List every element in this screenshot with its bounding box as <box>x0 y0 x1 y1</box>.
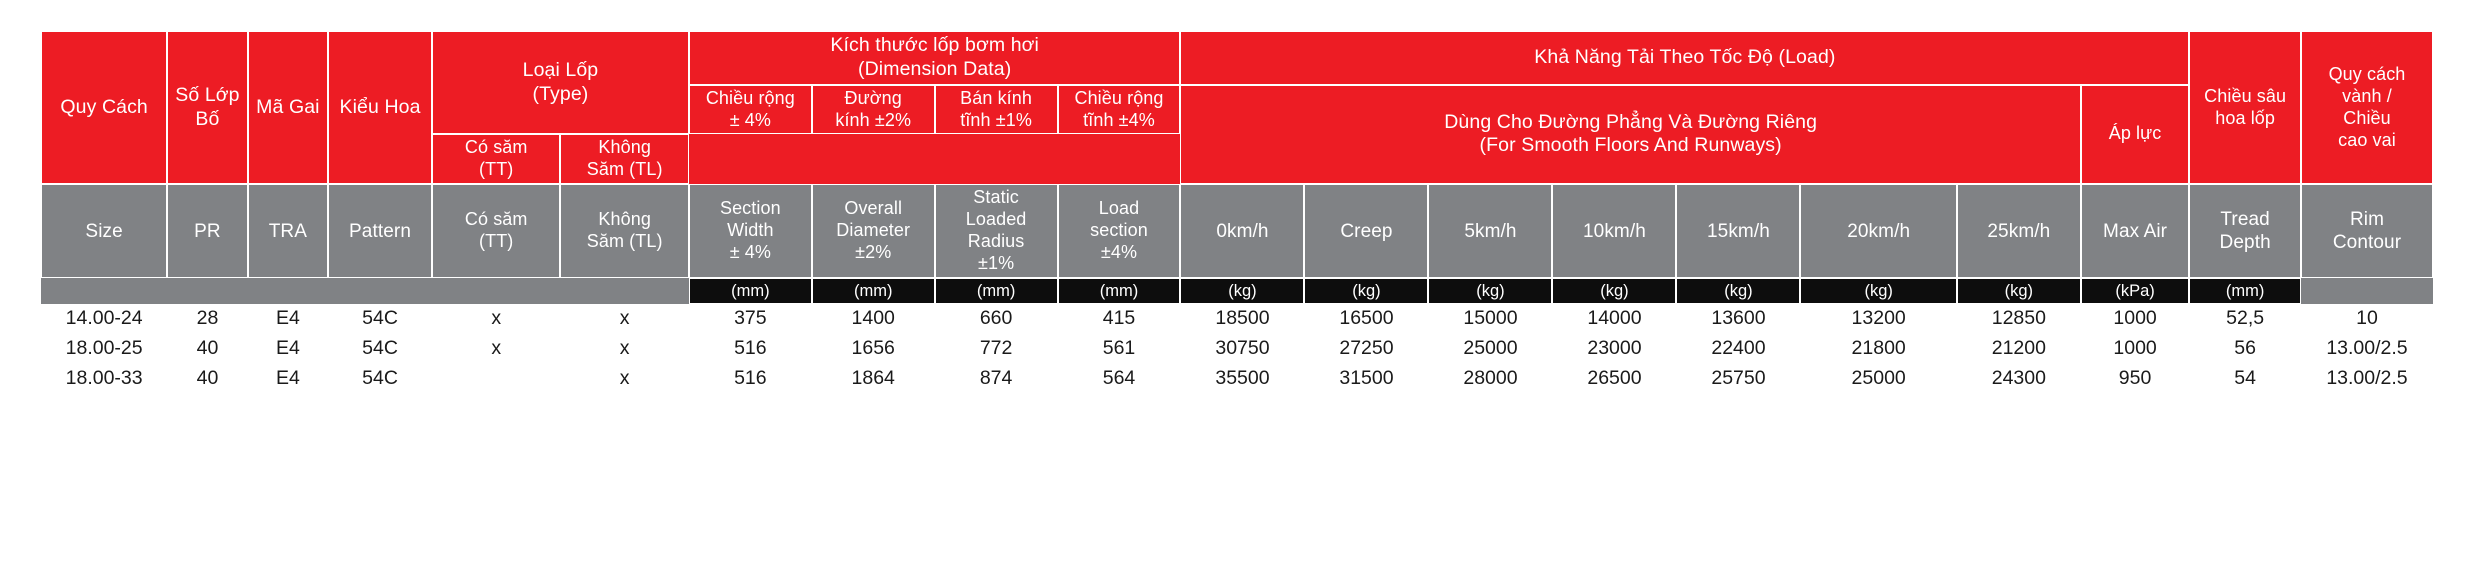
header-chieu-rong-tinh: Chiều rộng tĩnh ±4% <box>1058 85 1181 135</box>
unit-blank-size <box>41 278 167 304</box>
unit-blank-tl <box>560 278 688 304</box>
header-spacer-dim3 <box>935 134 1058 184</box>
load-section-line1: Load <box>1062 198 1177 220</box>
chieu-rong-tinh-line1: Chiều rộng <box>1062 88 1177 110</box>
header-pr: PR <box>167 184 247 278</box>
cell-size: 18.00-33 <box>41 364 167 394</box>
cell-rim-contour: 13.00/2.5 <box>2301 334 2433 364</box>
quy-cach-vanh-line1: Quy cách <box>2305 64 2429 86</box>
header-section-width: Section Width ± 4% <box>689 184 812 278</box>
cell-tread-depth: 52,5 <box>2189 304 2301 334</box>
header-speed-0kmh: 0km/h <box>1180 184 1304 278</box>
cell-load-creep: 27250 <box>1304 334 1428 364</box>
cell-pr: 40 <box>167 334 247 364</box>
header-ban-kinh-tinh: Bán kính tĩnh ±1% <box>935 85 1058 135</box>
header-load-group: Khả Năng Tải Theo Tốc Độ (Load) <box>1180 31 2189 85</box>
cell-load-0kmh: 35500 <box>1180 364 1304 394</box>
header-row-english: Size PR TRA Pattern Có săm (TT) Không Să… <box>41 184 2433 278</box>
cell-section-width: 516 <box>689 334 812 364</box>
chieu-rong-line2: ± 4% <box>693 110 808 132</box>
unit-blank-tt <box>432 278 560 304</box>
cell-load-10kmh: 26500 <box>1552 364 1676 394</box>
cell-load-0kmh: 18500 <box>1180 304 1304 334</box>
header-khong-sam-en: Không Săm (TL) <box>560 184 688 278</box>
header-ma-gai: Mã Gai <box>248 31 328 184</box>
table-row: 18.00-33 40 E4 54C x 516 1864 874 564 35… <box>41 364 2433 394</box>
header-pattern: Pattern <box>328 184 432 278</box>
load-section-line2: section <box>1062 220 1177 242</box>
tread-depth-line2: Depth <box>2193 231 2297 254</box>
cell-load-15kmh: 22400 <box>1676 334 1800 364</box>
cell-load-20kmh: 21800 <box>1800 334 1956 364</box>
co-sam-en-line1: Có săm <box>436 209 556 231</box>
cell-overall-diameter: 1864 <box>812 364 935 394</box>
cell-load-20kmh: 13200 <box>1800 304 1956 334</box>
header-load-section: Load section ±4% <box>1058 184 1181 278</box>
header-row-group-top: Quy Cách Số Lớp Bố Mã Gai Kiểu Hoa Loại … <box>41 31 2433 85</box>
co-sam-line1: Có săm <box>436 137 556 159</box>
cell-load-15kmh: 13600 <box>1676 304 1800 334</box>
ban-kinh-line2: tĩnh ±1% <box>939 110 1054 132</box>
duong-kinh-line1: Đường <box>816 88 931 110</box>
unit-max-air: (kPa) <box>2081 278 2189 304</box>
header-co-sam-en: Có săm (TT) <box>432 184 560 278</box>
header-khong-sam: Không Săm (TL) <box>560 134 688 184</box>
cell-load-25kmh: 21200 <box>1957 334 2081 364</box>
cell-load-15kmh: 25750 <box>1676 364 1800 394</box>
chieu-rong-line1: Chiều rộng <box>693 88 808 110</box>
header-max-air: Max Air <box>2081 184 2189 278</box>
cell-tubeless: x <box>560 334 688 364</box>
header-spacer-dim4 <box>1058 134 1181 184</box>
header-quy-cach: Quy Cách <box>41 31 167 184</box>
cell-tubeless: x <box>560 364 688 394</box>
loai-lop-line1: Loại Lốp <box>436 59 685 83</box>
cell-load-creep: 16500 <box>1304 304 1428 334</box>
cell-pattern: 54C <box>328 334 432 364</box>
smooth-line1: Dùng Cho Đường Phẳng Và Đường Riêng <box>1184 111 2076 135</box>
chieu-rong-tinh-line2: tĩnh ±4% <box>1062 110 1177 132</box>
header-spacer-dim <box>689 134 812 184</box>
overall-diameter-line2: Diameter <box>816 220 931 242</box>
cell-load-section: 564 <box>1058 364 1181 394</box>
unit-tread-depth: (mm) <box>2189 278 2301 304</box>
unit-load-section: (mm) <box>1058 278 1181 304</box>
table-row: 14.00-24 28 E4 54C x x 375 1400 660 415 … <box>41 304 2433 334</box>
unit-blank-tra <box>248 278 328 304</box>
rim-contour-line2: Contour <box>2305 231 2429 254</box>
cell-static-loaded-radius: 772 <box>935 334 1058 364</box>
header-co-sam: Có săm (TT) <box>432 134 560 184</box>
cell-size: 18.00-25 <box>41 334 167 364</box>
header-tread-depth: Tread Depth <box>2189 184 2301 278</box>
cell-load-section: 415 <box>1058 304 1181 334</box>
section-width-line1: Section <box>693 198 808 220</box>
tire-specification-table: Quy Cách Số Lớp Bố Mã Gai Kiểu Hoa Loại … <box>41 31 2433 394</box>
header-chieu-rong: Chiều rộng ± 4% <box>689 85 812 135</box>
cell-load-10kmh: 23000 <box>1552 334 1676 364</box>
header-duong-kinh: Đường kính ±2% <box>812 85 935 135</box>
cell-size: 14.00-24 <box>41 304 167 334</box>
cell-tube-type <box>432 364 560 394</box>
header-speed-creep: Creep <box>1304 184 1428 278</box>
cell-section-width: 516 <box>689 364 812 394</box>
cell-tube-type: x <box>432 334 560 364</box>
cell-load-5kmh: 25000 <box>1428 334 1552 364</box>
table-row: 18.00-25 40 E4 54C x x 516 1656 772 561 … <box>41 334 2433 364</box>
khong-sam-line1: Không <box>564 137 684 159</box>
section-width-line3: ± 4% <box>693 242 808 264</box>
header-spacer-dim2 <box>812 134 935 184</box>
rim-contour-line1: Rim <box>2305 208 2429 231</box>
static-radius-line4: ±1% <box>939 253 1054 275</box>
header-smooth-floors-group: Dùng Cho Đường Phẳng Và Đường Riêng (For… <box>1180 85 2080 185</box>
header-row-units: (mm) (mm) (mm) (mm) (kg) (kg) (kg) (kg) … <box>41 278 2433 304</box>
co-sam-en-line2: (TT) <box>436 231 556 253</box>
cell-overall-diameter: 1656 <box>812 334 935 364</box>
cell-pattern: 54C <box>328 304 432 334</box>
cell-load-5kmh: 15000 <box>1428 304 1552 334</box>
unit-blank-pr <box>167 278 247 304</box>
loai-lop-line2: (Type) <box>436 83 685 107</box>
cell-load-25kmh: 12850 <box>1957 304 2081 334</box>
cell-load-section: 561 <box>1058 334 1181 364</box>
unit-load-15kmh: (kg) <box>1676 278 1800 304</box>
cell-load-25kmh: 24300 <box>1957 364 2081 394</box>
cell-overall-diameter: 1400 <box>812 304 935 334</box>
header-loai-lop-group: Loại Lốp (Type) <box>432 31 689 134</box>
header-static-loaded-radius: Static Loaded Radius ±1% <box>935 184 1058 278</box>
header-kieu-hoa: Kiểu Hoa <box>328 31 432 184</box>
static-radius-line2: Loaded <box>939 209 1054 231</box>
header-speed-10kmh: 10km/h <box>1552 184 1676 278</box>
cell-tread-depth: 56 <box>2189 334 2301 364</box>
cell-load-10kmh: 14000 <box>1552 304 1676 334</box>
header-overall-diameter: Overall Diameter ±2% <box>812 184 935 278</box>
cell-tube-type: x <box>432 304 560 334</box>
overall-diameter-line3: ±2% <box>816 242 931 264</box>
cell-section-width: 375 <box>689 304 812 334</box>
cell-static-loaded-radius: 660 <box>935 304 1058 334</box>
khong-sam-line2: Săm (TL) <box>564 159 684 181</box>
cell-tubeless: x <box>560 304 688 334</box>
khong-sam-en-line2: Săm (TL) <box>564 231 684 253</box>
unit-load-creep: (kg) <box>1304 278 1428 304</box>
cell-load-0kmh: 30750 <box>1180 334 1304 364</box>
cell-pr: 28 <box>167 304 247 334</box>
header-speed-5kmh: 5km/h <box>1428 184 1552 278</box>
cell-tra: E4 <box>248 364 328 394</box>
static-radius-line3: Radius <box>939 231 1054 253</box>
duong-kinh-line2: kính ±2% <box>816 110 931 132</box>
header-so-lop-bo: Số Lớp Bố <box>167 31 247 184</box>
unit-blank-rim <box>2301 278 2433 304</box>
unit-load-5kmh: (kg) <box>1428 278 1552 304</box>
unit-load-0kmh: (kg) <box>1180 278 1304 304</box>
dimension-line2: (Dimension Data) <box>693 58 1177 82</box>
cell-tra: E4 <box>248 304 328 334</box>
cell-max-air: 950 <box>2081 364 2189 394</box>
unit-section-width: (mm) <box>689 278 812 304</box>
load-section-line3: ±4% <box>1062 242 1177 264</box>
header-speed-20kmh: 20km/h <box>1800 184 1956 278</box>
unit-overall-diameter: (mm) <box>812 278 935 304</box>
quy-cach-vanh-line2: vành / <box>2305 86 2429 108</box>
co-sam-line2: (TT) <box>436 159 556 181</box>
cell-load-creep: 31500 <box>1304 364 1428 394</box>
unit-load-20kmh: (kg) <box>1800 278 1956 304</box>
overall-diameter-line1: Overall <box>816 198 931 220</box>
cell-tread-depth: 54 <box>2189 364 2301 394</box>
cell-max-air: 1000 <box>2081 334 2189 364</box>
cell-pattern: 54C <box>328 364 432 394</box>
unit-load-10kmh: (kg) <box>1552 278 1676 304</box>
section-width-line2: Width <box>693 220 808 242</box>
cell-tra: E4 <box>248 334 328 364</box>
header-chieu-sau-hoa-lop: Chiều sâu hoa lốp <box>2189 31 2301 184</box>
cell-max-air: 1000 <box>2081 304 2189 334</box>
header-tra: TRA <box>248 184 328 278</box>
header-speed-15kmh: 15km/h <box>1676 184 1800 278</box>
dimension-line1: Kích thước lốp bơm hơi <box>693 34 1177 58</box>
tread-depth-line1: Tread <box>2193 208 2297 231</box>
header-ap-luc: Áp lực <box>2081 85 2189 185</box>
header-rim-contour: Rim Contour <box>2301 184 2433 278</box>
unit-blank-pattern <box>328 278 432 304</box>
khong-sam-en-line1: Không <box>564 209 684 231</box>
cell-rim-contour: 10 <box>2301 304 2433 334</box>
cell-load-5kmh: 28000 <box>1428 364 1552 394</box>
header-quy-cach-vanh: Quy cách vành / Chiều cao vai <box>2301 31 2433 184</box>
cell-load-20kmh: 25000 <box>1800 364 1956 394</box>
unit-static-radius: (mm) <box>935 278 1058 304</box>
chieu-sau-line2: hoa lốp <box>2193 108 2297 130</box>
ban-kinh-line1: Bán kính <box>939 88 1054 110</box>
header-speed-25kmh: 25km/h <box>1957 184 2081 278</box>
quy-cach-vanh-line3: Chiều <box>2305 108 2429 130</box>
static-radius-line1: Static <box>939 187 1054 209</box>
cell-pr: 40 <box>167 364 247 394</box>
smooth-line2: (For Smooth Floors And Runways) <box>1184 134 2076 158</box>
cell-rim-contour: 13.00/2.5 <box>2301 364 2433 394</box>
chieu-sau-line1: Chiều sâu <box>2193 86 2297 108</box>
header-size: Size <box>41 184 167 278</box>
unit-load-25kmh: (kg) <box>1957 278 2081 304</box>
header-dimension-group: Kích thước lốp bơm hơi (Dimension Data) <box>689 31 1181 85</box>
tire-specification-sheet: Quy Cách Số Lớp Bố Mã Gai Kiểu Hoa Loại … <box>0 0 2473 562</box>
quy-cach-vanh-line4: cao vai <box>2305 130 2429 152</box>
cell-static-loaded-radius: 874 <box>935 364 1058 394</box>
